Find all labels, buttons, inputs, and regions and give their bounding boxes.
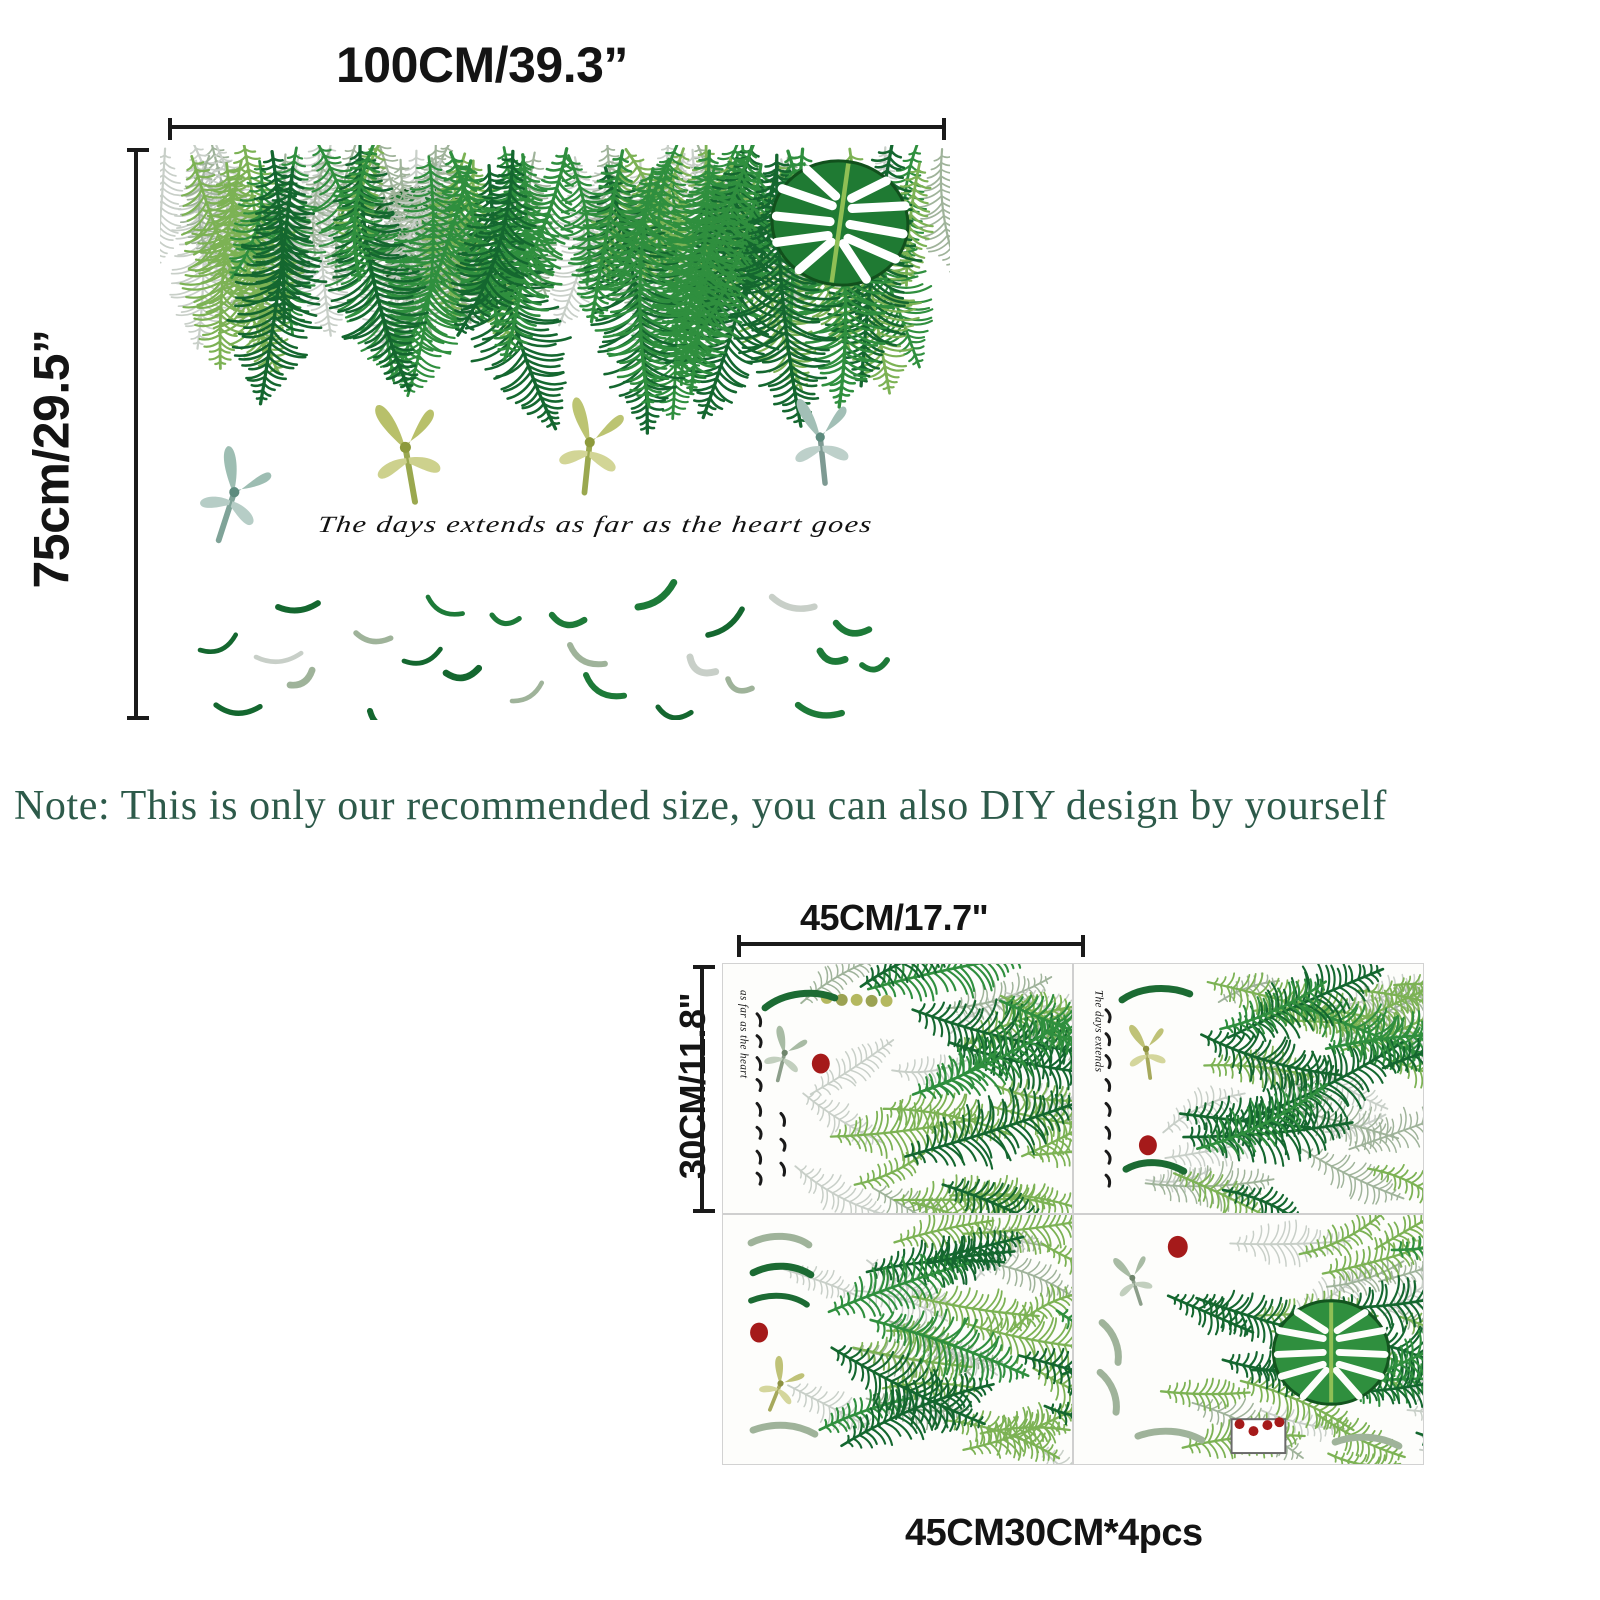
scatter-leaf — [656, 705, 691, 720]
scatter-leaf — [725, 677, 752, 695]
note-text: Note: This is only our recommended size,… — [14, 782, 1387, 830]
sticker-panel-top-left: as far as the heart — [723, 964, 1072, 1213]
scatter-leaf — [256, 653, 302, 662]
dragonfly-icon — [366, 396, 449, 507]
sheet-caption: 45CM30CM*4pcs — [905, 1512, 1203, 1555]
sheet-height-label: 30CM/11.8" — [672, 993, 714, 1179]
dragonfly-icon — [1124, 1021, 1170, 1081]
scatter-leaf — [567, 643, 605, 671]
scatter-leaf — [797, 703, 842, 720]
main-script-quote: The days extends as far as the heart goe… — [316, 512, 874, 539]
sticker-panel-bottom-right — [1074, 1215, 1423, 1464]
berry-icon — [1139, 1135, 1157, 1155]
main-artwork-preview — [160, 145, 950, 720]
main-width-dimension-line — [168, 125, 946, 129]
scatter-leaf — [707, 609, 746, 638]
dragonfly-icon — [761, 1024, 810, 1085]
scatter-leaf — [511, 683, 545, 705]
sticker-sheet-grid: as far as the heart — [722, 963, 1424, 1465]
scatter-leaf — [289, 670, 315, 689]
dragonfly-icon — [1109, 1249, 1159, 1309]
leaf-stroke — [1122, 988, 1190, 999]
scatter-leaf — [818, 649, 845, 666]
scatter-leaf — [551, 613, 585, 628]
scatter-leaf — [771, 595, 815, 613]
scatter-leaf — [366, 709, 398, 720]
berry-icon — [1168, 1236, 1188, 1258]
sheet-width-label: 45CM/17.7" — [800, 897, 988, 939]
scattered-leaves — [199, 582, 888, 720]
foliage-canopy — [160, 145, 950, 433]
main-width-label: 100CM/39.3” — [336, 36, 628, 94]
scatter-leaf — [425, 595, 463, 621]
panel-script-top-right: The days extends — [1092, 990, 1106, 1072]
sheet-height-dimension-line — [700, 965, 704, 1213]
dragonfly-icon — [191, 443, 276, 550]
monstera-leaf-icon — [1273, 1301, 1389, 1405]
script-strokes — [1106, 1010, 1110, 1186]
scatter-leaf — [278, 603, 318, 611]
berry-icon — [750, 1323, 768, 1343]
sticker-panel-bottom-left — [723, 1215, 1072, 1464]
scatter-leaf — [215, 703, 260, 715]
scatter-leaf — [491, 613, 519, 626]
product-size-infographic: 100CM/39.3” 75cm/29.5” — [0, 0, 1600, 1600]
panel-script-top-left: as far as the heart — [737, 990, 751, 1079]
scatter-leaf — [835, 621, 870, 637]
sticker-panel-top-right: The days extends — [1074, 964, 1423, 1213]
scatter-leaf — [446, 668, 480, 679]
sheet-width-dimension-line — [737, 942, 1085, 946]
dragonfly-icon — [556, 396, 625, 496]
scatter-leaf — [199, 635, 238, 657]
main-height-label: 75cm/29.5” — [23, 329, 81, 588]
leaf-stroke — [1126, 1163, 1184, 1172]
dragonfly-icon — [789, 394, 854, 486]
main-height-dimension-line — [134, 148, 138, 720]
berry-icon — [812, 1054, 830, 1074]
berry-box — [1232, 1417, 1286, 1453]
scatter-leaf — [355, 631, 391, 645]
scatter-leaf — [862, 660, 888, 671]
scatter-leaf — [582, 673, 624, 704]
scatter-leaf — [403, 649, 442, 667]
scatter-leaf — [637, 582, 677, 611]
scatter-leaf — [686, 655, 716, 679]
